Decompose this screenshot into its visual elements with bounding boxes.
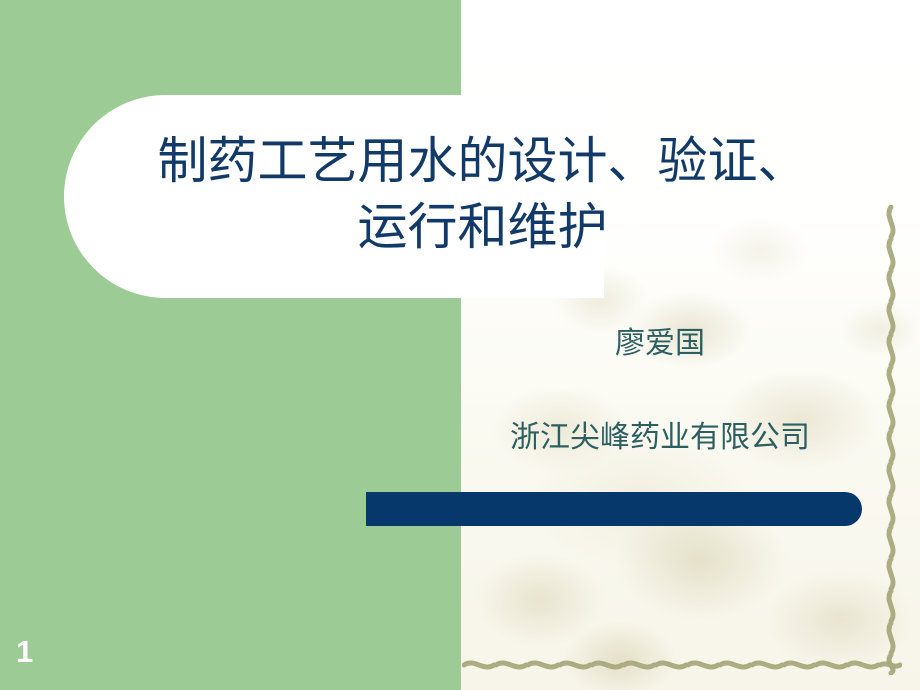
page-number: 1: [16, 634, 33, 670]
wavy-horizontal-border-icon: [462, 650, 902, 676]
subtitle-author: 廖爱国: [460, 325, 860, 363]
subtitle-company: 浙江尖峰药业有限公司: [460, 418, 860, 458]
presentation-slide: 制药工艺用水的设计、验证、 运行和维护 廖爱国 浙江尖峰药业有限公司 1: [0, 0, 920, 690]
wavy-vertical-border-icon: [880, 205, 902, 675]
slide-title: 制药工艺用水的设计、验证、 运行和维护: [55, 128, 910, 260]
accent-bar: [366, 492, 862, 526]
